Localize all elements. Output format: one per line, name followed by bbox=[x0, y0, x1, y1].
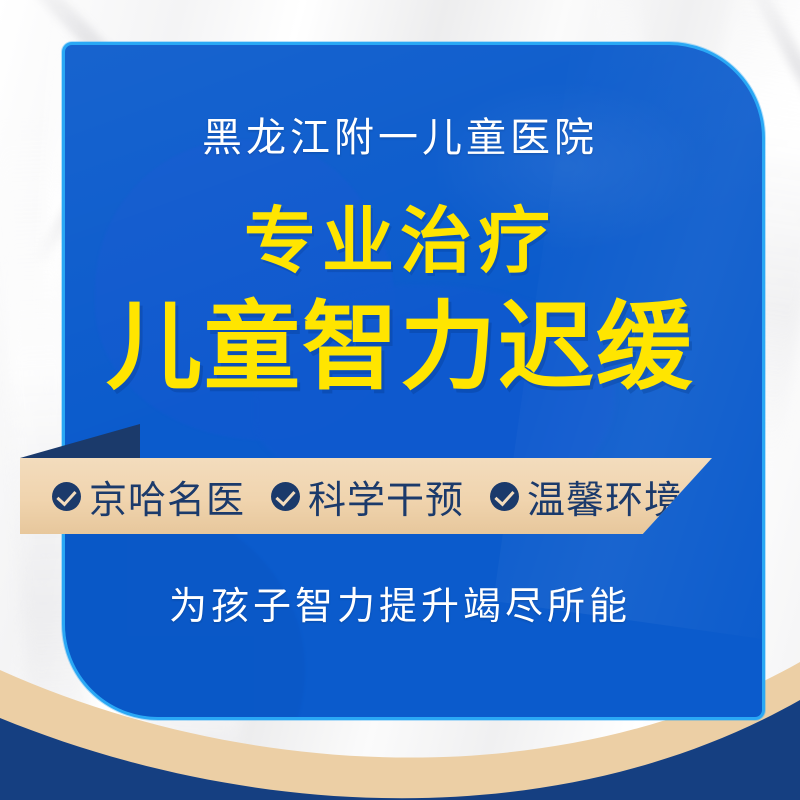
feature-item-2: 科学干预 bbox=[271, 469, 464, 524]
feature-label-3: 温馨环境 bbox=[527, 469, 683, 524]
check-circle-icon bbox=[52, 482, 81, 511]
hospital-name: 黑龙江附一儿童医院 bbox=[0, 105, 800, 163]
sub-headline: 专业治疗 bbox=[0, 206, 800, 278]
feature-item-3: 温馨环境 bbox=[490, 469, 683, 524]
feature-item-1: 京哈名医 bbox=[52, 469, 245, 524]
check-circle-icon bbox=[271, 482, 300, 511]
poster-content: 黑龙江附一儿童医院 专业治疗 儿童智力迟缓 京哈名医 科学干预 温馨环境 为孩子… bbox=[0, 0, 800, 800]
feature-ribbon: 京哈名医 科学干预 温馨环境 bbox=[20, 458, 712, 534]
check-circle-icon bbox=[490, 482, 519, 511]
feature-label-1: 京哈名医 bbox=[89, 469, 245, 524]
main-headline: 儿童智力迟缓 bbox=[0, 300, 800, 396]
ribbon-fold-shadow bbox=[20, 424, 140, 458]
poster-canvas: 黑龙江附一儿童医院 专业治疗 儿童智力迟缓 京哈名医 科学干预 温馨环境 为孩子… bbox=[0, 0, 800, 800]
feature-label-2: 科学干预 bbox=[308, 469, 464, 524]
tagline: 为孩子智力提升竭尽所能 bbox=[0, 575, 800, 630]
